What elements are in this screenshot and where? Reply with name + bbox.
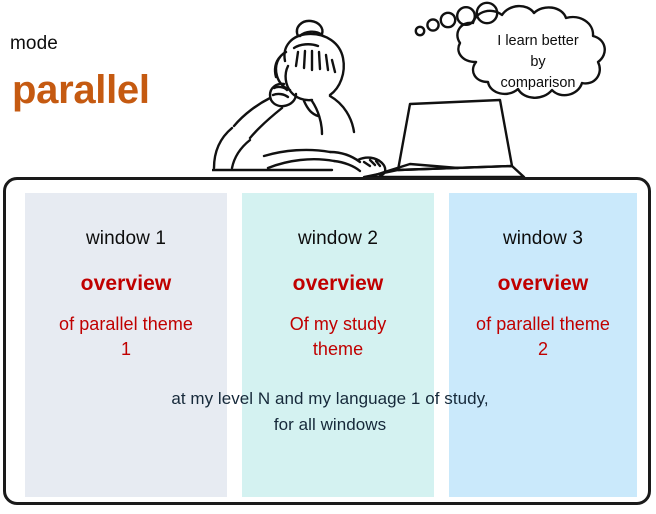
header-area: mode parallel (0, 0, 656, 177)
page-title: parallel (12, 68, 150, 113)
window-2-heading: overview (242, 272, 434, 296)
mode-caption: mode (10, 33, 58, 55)
window-3-subtitle: of parallel theme 2 (449, 312, 637, 362)
window-panel-1-content: window 1 overview of parallel theme 1 (25, 228, 227, 362)
windows-container: window 1 overview of parallel theme 1 wi… (3, 177, 651, 505)
window-panel-2-content: window 2 overview Of my study theme (242, 228, 434, 362)
window-1-subtitle: of parallel theme 1 (25, 312, 227, 362)
window-2-subtitle: Of my study theme (242, 312, 434, 362)
window-1-heading: overview (25, 272, 227, 296)
window-panel-3[interactable]: window 3 overview of parallel theme 2 (449, 193, 637, 497)
window-2-label: window 2 (242, 228, 434, 250)
thought-bubble-text: I learn better by comparison (468, 31, 608, 94)
window-1-label: window 1 (25, 228, 227, 250)
window-panel-2[interactable]: window 2 overview Of my study theme (242, 193, 434, 497)
window-3-label: window 3 (449, 228, 637, 250)
window-panel-1[interactable]: window 1 overview of parallel theme 1 (25, 193, 227, 497)
window-panels: window 1 overview of parallel theme 1 wi… (6, 180, 648, 502)
footnote-text: at my level N and my language 1 of study… (6, 386, 654, 438)
window-3-heading: overview (449, 272, 637, 296)
window-panel-3-content: window 3 overview of parallel theme 2 (449, 228, 637, 362)
